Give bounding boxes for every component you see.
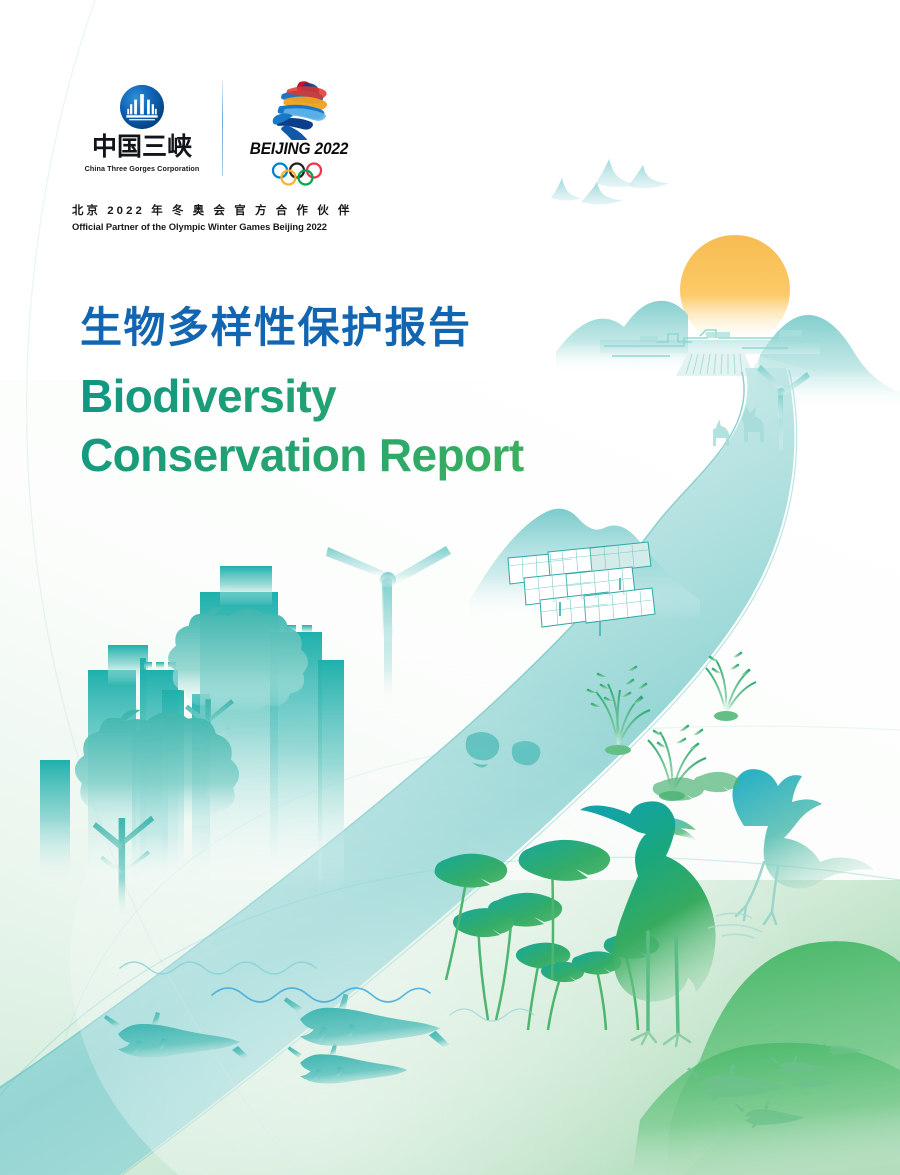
- report-title-english-line1: Biodiversity: [80, 370, 336, 422]
- partner-block: 北京 2022 年 冬 奥 会 官 方 合 作 伙 伴 Official Par…: [72, 202, 344, 232]
- title-block: 生物多样性保护报告 Biodiversity Conservation Repo…: [80, 304, 600, 485]
- partner-line-chinese: 北京 2022 年 冬 奥 会 官 方 合 作 伙 伴: [72, 202, 344, 218]
- report-cover-page: 中国三峡 China Three Gorges Corporation: [0, 0, 900, 1175]
- logo-row: 中国三峡 China Three Gorges Corporation: [72, 78, 412, 188]
- logo-divider: [222, 80, 223, 176]
- cover-header: 中国三峡 China Three Gorges Corporation: [72, 78, 412, 232]
- report-title-english: Biodiversity Conservation Report: [80, 367, 600, 485]
- beijing-2022-winter-olympics-emblem-icon: [261, 78, 337, 140]
- partner-line-english: Official Partner of the Olympic Winter G…: [72, 221, 344, 232]
- olympic-rings-icon: [268, 162, 330, 186]
- ctg-logo: 中国三峡 China Three Gorges Corporation: [72, 78, 212, 173]
- report-title-chinese: 生物多样性保护报告: [80, 304, 600, 351]
- olympic-wordmark: BEIJING 2022: [250, 141, 348, 160]
- ctg-chinese-name: 中国三峡: [92, 135, 192, 160]
- olympic-logo: BEIJING 2022: [239, 78, 359, 186]
- ctg-dam-emblem-icon: [119, 84, 165, 130]
- report-title-english-line2: Conservation Report: [80, 426, 600, 485]
- ctg-english-name: China Three Gorges Corporation: [85, 164, 200, 173]
